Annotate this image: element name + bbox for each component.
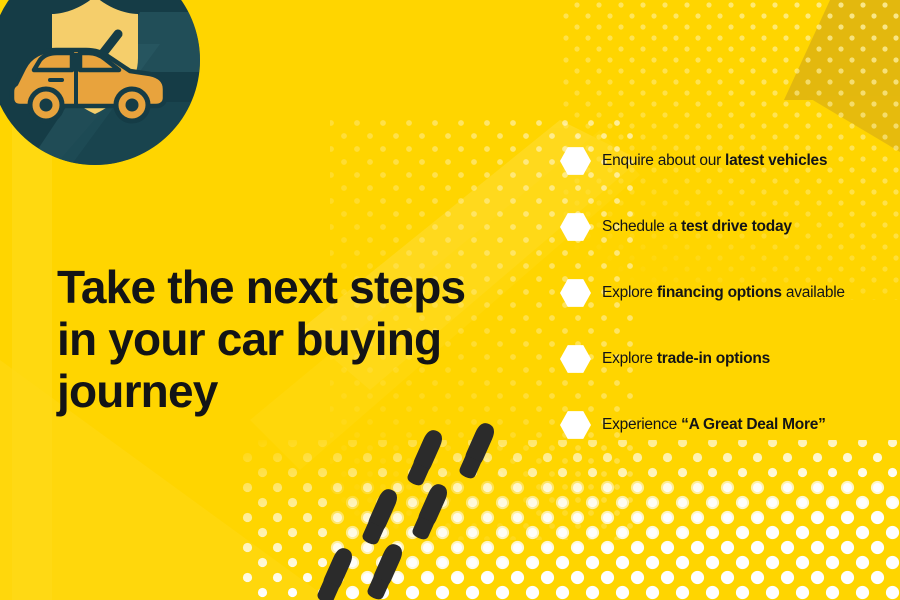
next-steps-list: Enquire about our latest vehicles Schedu… xyxy=(560,128,900,458)
hexagon-bullet-icon xyxy=(560,147,591,176)
car-shield-logo xyxy=(0,0,200,194)
list-item-label: Explore financing options available xyxy=(602,284,845,303)
hexagon-bullet-icon xyxy=(560,279,591,308)
hexagon-bullet-icon xyxy=(560,213,591,242)
list-item[interactable]: Explore financing options available xyxy=(560,260,900,326)
poster-canvas: Take the next steps in your car buying j… xyxy=(0,0,900,600)
headline-line-2: in your car buying xyxy=(57,314,527,366)
headline-line-1: Take the next steps xyxy=(57,262,527,314)
list-item[interactable]: Experience “A Great Deal More” xyxy=(560,392,900,458)
list-item[interactable]: Enquire about our latest vehicles xyxy=(560,128,900,194)
list-item-label: Experience “A Great Deal More” xyxy=(602,416,826,435)
list-item[interactable]: Schedule a test drive today xyxy=(560,194,900,260)
list-item-label: Explore trade-in options xyxy=(602,350,770,369)
headline-line-3: journey xyxy=(57,366,527,418)
hexagon-bullet-icon xyxy=(560,411,591,440)
list-item-label: Schedule a test drive today xyxy=(602,218,792,237)
page-title: Take the next steps in your car buying j… xyxy=(57,262,527,418)
halftone-bottom-dense xyxy=(330,480,900,600)
list-item[interactable]: Explore trade-in options xyxy=(560,326,900,392)
hexagon-bullet-icon xyxy=(560,345,591,374)
list-item-label: Enquire about our latest vehicles xyxy=(602,152,827,171)
